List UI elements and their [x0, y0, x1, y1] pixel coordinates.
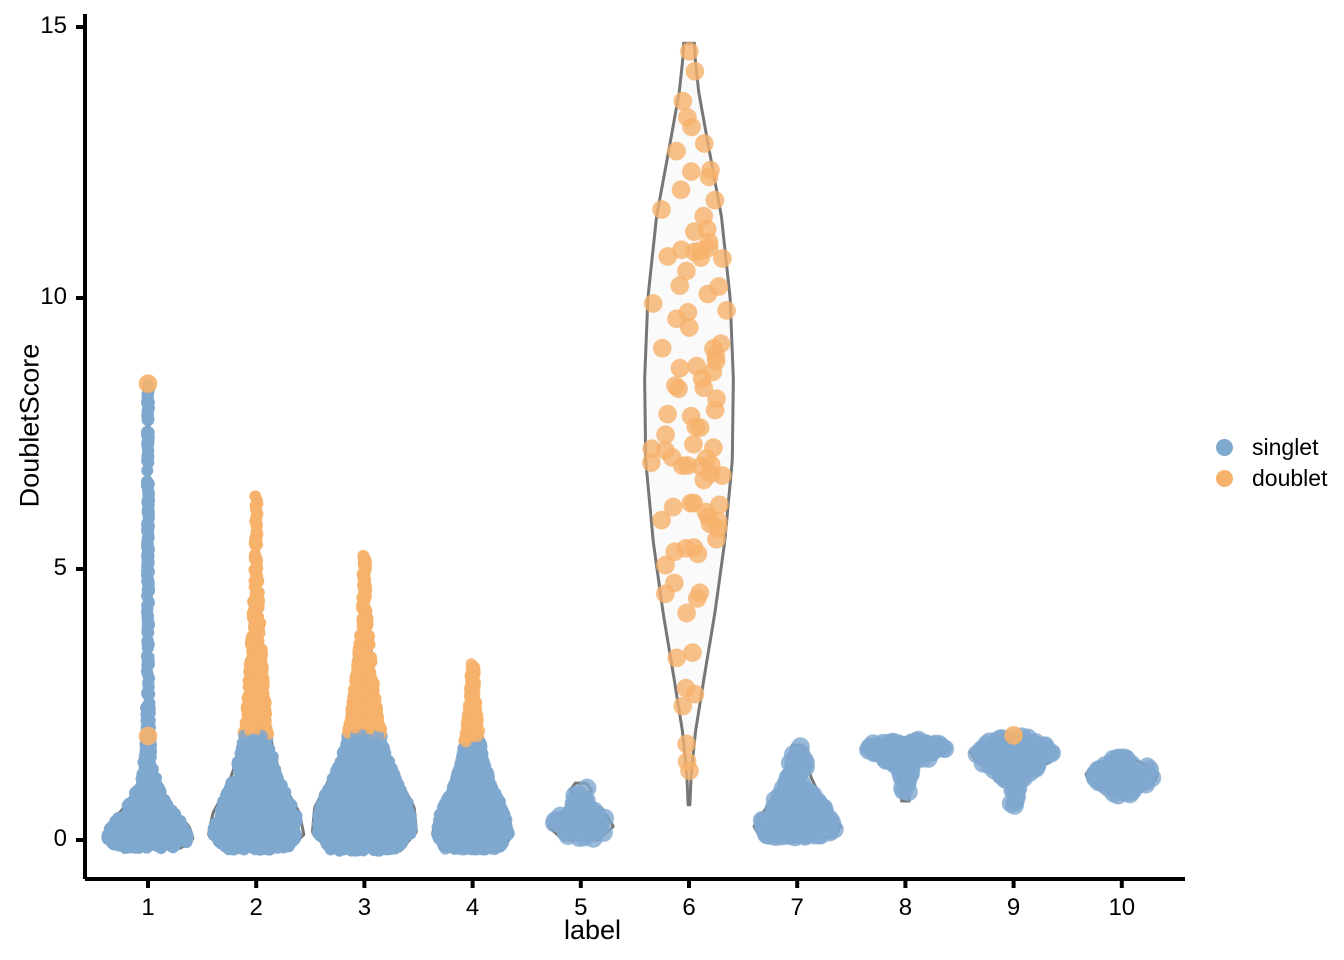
- data-point: [146, 810, 157, 821]
- data-point: [235, 828, 246, 839]
- data-point: [143, 585, 154, 596]
- data-point: [142, 410, 153, 421]
- data-point: [140, 839, 151, 850]
- data-point: [226, 782, 237, 793]
- data-point: [215, 832, 226, 843]
- data-point: [249, 603, 260, 614]
- data-point: [219, 800, 230, 811]
- data-point: [119, 821, 130, 832]
- data-point: [166, 838, 177, 849]
- data-point: [247, 691, 258, 702]
- data-point: [142, 715, 153, 726]
- data-point: [252, 539, 263, 550]
- data-point: [235, 794, 246, 805]
- data-point: [142, 451, 153, 462]
- outlier-point: [139, 375, 157, 393]
- data-point: [251, 553, 262, 564]
- data-point: [262, 756, 273, 767]
- data-point: [153, 783, 164, 794]
- chart-root: DoubletScore label 051015 12345678910 si…: [0, 0, 1344, 960]
- data-point: [142, 607, 153, 618]
- data-point: [141, 702, 152, 713]
- data-point: [136, 785, 147, 796]
- data-point: [235, 843, 246, 854]
- data-point: [246, 747, 257, 758]
- data-point: [157, 798, 168, 809]
- data-point: [143, 677, 154, 688]
- data-point: [250, 516, 261, 527]
- data-point: [242, 817, 253, 828]
- data-point: [143, 486, 154, 497]
- data-point: [247, 635, 258, 646]
- data-point: [108, 836, 119, 847]
- data-point: [253, 575, 264, 586]
- data-point: [250, 503, 261, 514]
- data-point: [245, 787, 256, 798]
- data-point: [258, 746, 269, 757]
- data-point: [256, 805, 267, 816]
- data-point: [143, 513, 154, 524]
- data-point: [139, 768, 150, 779]
- data-point: [260, 714, 271, 725]
- data-point: [247, 833, 258, 844]
- violin-plot-svg: [0, 0, 1344, 960]
- data-point: [250, 656, 261, 667]
- data-point: [142, 439, 153, 450]
- data-point: [143, 690, 154, 701]
- data-point: [144, 619, 155, 630]
- data-point: [168, 812, 179, 823]
- data-point: [270, 810, 281, 821]
- data-point: [216, 811, 227, 822]
- data-point: [143, 533, 154, 544]
- data-point: [249, 703, 260, 714]
- data-point: [248, 734, 259, 745]
- data-point: [181, 836, 192, 847]
- data-point: [142, 638, 153, 649]
- data-point: [291, 810, 302, 821]
- data-point: [129, 808, 140, 819]
- data-point: [142, 559, 153, 570]
- data-point: [257, 691, 268, 702]
- data-point: [139, 823, 150, 834]
- outlier-point: [139, 727, 157, 745]
- data-point: [258, 830, 269, 841]
- data-point: [143, 658, 154, 669]
- data-point: [274, 786, 285, 797]
- data-point: [259, 769, 270, 780]
- data-point: [142, 397, 153, 408]
- data-point: [255, 646, 266, 657]
- data-point: [247, 723, 258, 734]
- data-point: [247, 677, 258, 688]
- data-point: [154, 835, 165, 846]
